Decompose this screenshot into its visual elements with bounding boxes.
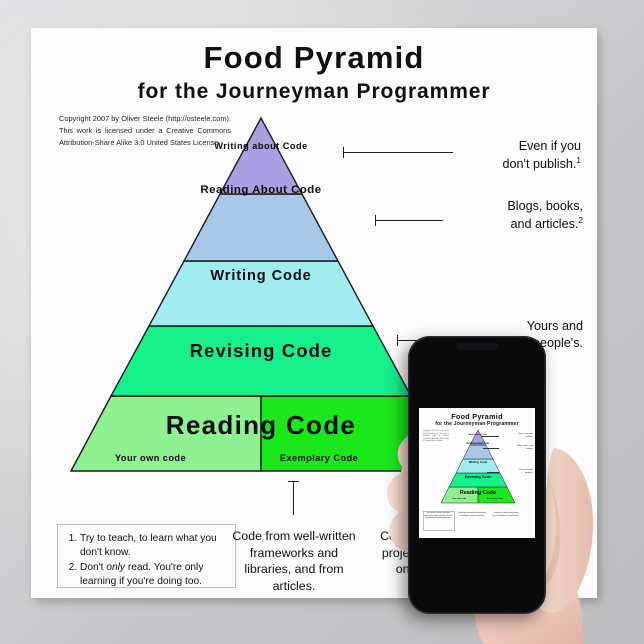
mini-anno-1-l1: Even if you xyxy=(518,433,528,435)
footnote-item-2: Don't only read. You're only learning if… xyxy=(80,561,227,589)
annotation-writing-about-code: Even if you don't publish.1 xyxy=(461,138,581,173)
mini-annotation-center: Code from well-written frameworks and li… xyxy=(457,512,487,517)
page-subtitle: for the Journeyman Programmer xyxy=(31,80,597,104)
leader-line-2 xyxy=(375,220,443,221)
leader-line-1 xyxy=(343,152,453,153)
pyramid-label-tier-1: Writing about Code xyxy=(51,140,471,152)
phone-screen[interactable]: Food Pyramid for the Journeyman Programm… xyxy=(419,408,535,538)
footnotes-box: Try to teach, to learn what you don't kn… xyxy=(57,524,236,588)
annotation-1-footnote-ref: 1 xyxy=(576,155,581,165)
annotation-2-line-1: Blogs, books, xyxy=(507,199,583,213)
annotation-1-line-2: don't publish. xyxy=(503,157,577,171)
footnote-2-emphasis: only xyxy=(106,562,125,573)
mini-label-tier-5: Reading Code xyxy=(437,490,519,496)
annotation-3-line-1: Yours and xyxy=(527,319,583,333)
mini-annotation-2: Blogs, books, and articles. xyxy=(511,445,533,450)
mini-label-tier-3: Writing Code xyxy=(437,460,519,464)
mini-label-tier-4: Revising Code xyxy=(437,475,519,479)
mini-sublabel-own: Your own code xyxy=(443,498,475,500)
pyramid-tier-reading-about-code xyxy=(184,194,338,261)
page-title: Food Pyramid xyxy=(31,40,597,76)
leader-cap-3 xyxy=(397,335,398,346)
footnote-2-pre: Don't xyxy=(80,562,106,573)
pyramid-label-tier-3: Writing Code xyxy=(51,268,471,284)
stem-cap-center xyxy=(288,481,299,482)
smartphone-device[interactable]: Food Pyramid for the Journeyman Programm… xyxy=(408,336,546,614)
footnotes-list: Try to teach, to learn what you don't kn… xyxy=(58,525,235,589)
annotation-2-line-2: and articles. xyxy=(510,217,578,231)
footnote-item-1: Try to teach, to learn what you don't kn… xyxy=(80,532,227,560)
phone-notch xyxy=(456,343,498,350)
stem-line-center xyxy=(293,481,294,515)
mini-annotation-3: Yours and other people's. xyxy=(511,469,533,474)
mini-poster: Food Pyramid for the Journeyman Programm… xyxy=(419,408,535,538)
mini-footnotes: Try to teach, to learn what you don't kn… xyxy=(424,512,452,520)
mini-sublabel-exemplary: Exemplary Code xyxy=(479,498,511,500)
annotation-1-line-1: Even if you xyxy=(519,139,581,153)
pyramid-sublabel-your-own-code: Your own code xyxy=(83,453,218,463)
mini-poster-subtitle: for the Journeyman Programmer xyxy=(419,421,535,427)
annotation-reading-about-code: Blogs, books, and articles.2 xyxy=(451,198,583,233)
mini-label-tier-2: Reading About Code xyxy=(437,443,519,446)
mini-anno-1-l2: don't publish. xyxy=(526,433,533,438)
mini-anno-3-l1: Yours and xyxy=(519,469,528,471)
annotation-2-footnote-ref: 2 xyxy=(578,215,583,225)
mini-pyramid-chart: Writing about Code Reading About Code Wr… xyxy=(437,429,519,505)
annotation-exemplary-code-source: Code from well-written frameworks and li… xyxy=(227,528,361,595)
pyramid-sublabel-exemplary-code: Exemplary Code xyxy=(244,453,394,463)
mini-label-tier-1: Writing about Code xyxy=(437,434,519,437)
mini-annotation-right: Code you're asking and projects you're w… xyxy=(491,512,521,517)
mini-anno-2-l1: Blogs, books, xyxy=(517,445,529,447)
screenshot-stage: Food Pyramid for the Journeyman Programm… xyxy=(0,0,644,644)
leader-cap-2 xyxy=(375,215,376,226)
leader-cap-1 xyxy=(343,147,344,158)
mini-poster-title: Food Pyramid xyxy=(419,412,535,421)
pyramid-label-tier-2: Reading About Code xyxy=(51,182,471,198)
mini-annotation-1: Even if you don't publish. xyxy=(511,433,533,438)
